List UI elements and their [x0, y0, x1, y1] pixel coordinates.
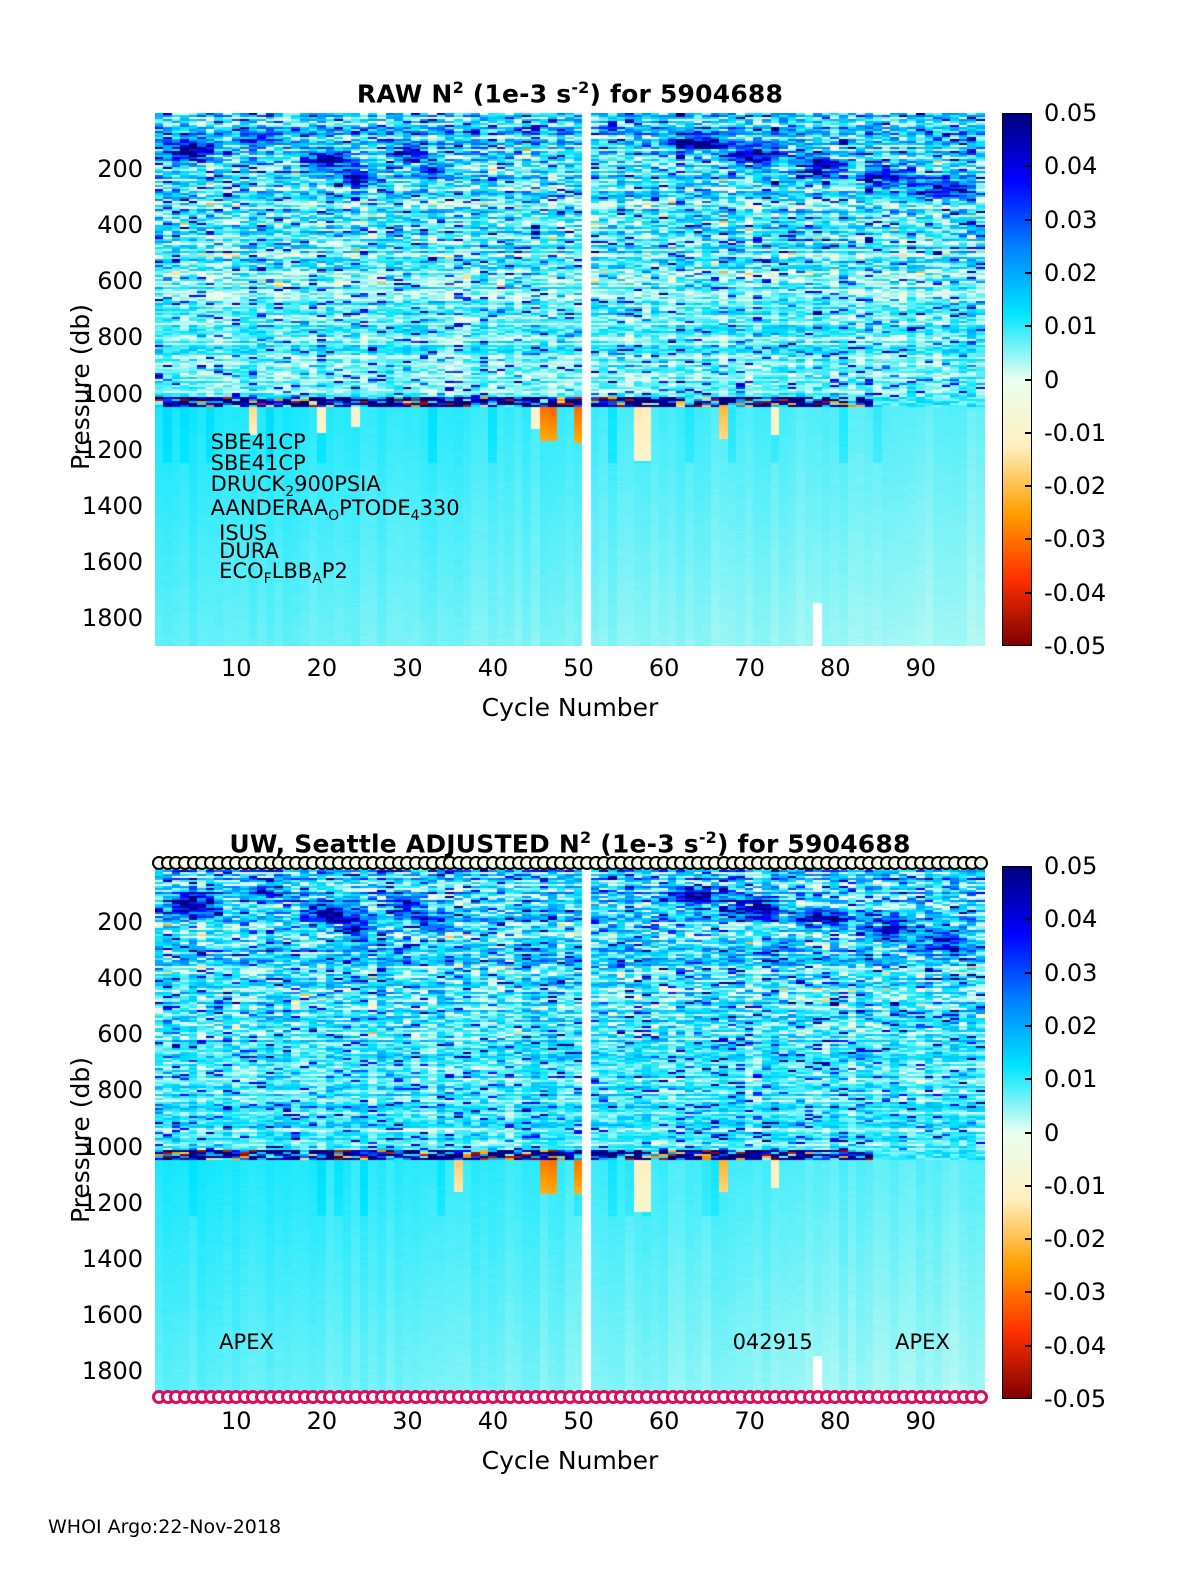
- y-tick-label: 1400: [0, 492, 143, 520]
- x-tick-label: 80: [820, 1407, 851, 1435]
- colorbar-tick-mark: [1025, 1291, 1032, 1293]
- x-tick-label: 70: [734, 654, 765, 682]
- y-tick-label: 1600: [0, 1301, 143, 1329]
- colorbar-tick-label: 0.05: [1044, 852, 1097, 880]
- x-tick-label: 60: [649, 654, 680, 682]
- colorbar-tick-label: 0.02: [1044, 259, 1097, 287]
- colorbar-tick-label: 0: [1044, 1119, 1059, 1147]
- colorbar-tick-mark: [1025, 1078, 1032, 1080]
- colorbar-tick-label: 0.05: [1044, 99, 1097, 127]
- x-tick-label: 80: [820, 654, 851, 682]
- plot-annotation: SBE41CP: [211, 432, 306, 453]
- plot-title-adjusted: UW, Seattle ADJUSTED N2 (1e-3 s-2) for 5…: [155, 828, 985, 858]
- plot-annotation: APEX: [895, 1332, 950, 1353]
- y-axis-label-adjusted: Pressure (db): [66, 1057, 95, 1223]
- x-axis-label-adjusted: Cycle Number: [155, 1446, 985, 1475]
- plot-annotation: 042915: [733, 1332, 813, 1353]
- colorbar-tick-label: 0.01: [1044, 1065, 1097, 1093]
- colorbar-tick-label: -0.05: [1044, 632, 1106, 660]
- x-tick-label: 10: [221, 1407, 252, 1435]
- x-tick-label: 60: [649, 1407, 680, 1435]
- x-tick-label: 30: [392, 654, 423, 682]
- x-tick-label: 40: [478, 654, 509, 682]
- colorbar-tick-label: -0.04: [1044, 1332, 1106, 1360]
- y-tick-label: 400: [0, 211, 143, 239]
- cycle-markers-top: [155, 856, 985, 876]
- y-tick-label: 200: [0, 908, 143, 936]
- colorbar-tick-label: 0.04: [1044, 152, 1097, 180]
- colorbar-tick-mark: [1025, 918, 1032, 920]
- colorbar-tick-label: -0.05: [1044, 1385, 1106, 1413]
- y-tick-label: 1600: [0, 548, 143, 576]
- colorbar-tick-label: -0.03: [1044, 1278, 1106, 1306]
- heatmap-canvas-adjusted: [155, 866, 985, 1399]
- y-tick-label: 600: [0, 267, 143, 295]
- x-tick-label: 90: [906, 1407, 937, 1435]
- footer-credit: WHOI Argo:22-Nov-2018: [48, 1516, 281, 1538]
- x-tick-label: 10: [221, 654, 252, 682]
- x-tick-label: 20: [307, 654, 338, 682]
- x-tick-label: 90: [906, 654, 937, 682]
- x-tick-label: 30: [392, 1407, 423, 1435]
- colorbar-tick-label: -0.02: [1044, 1225, 1106, 1253]
- colorbar-tick-mark: [1025, 538, 1032, 540]
- x-tick-label: 50: [563, 1407, 594, 1435]
- y-tick-label: 600: [0, 1020, 143, 1048]
- colorbar-tick-label: -0.01: [1044, 419, 1106, 447]
- colorbar-tick-label: 0.03: [1044, 206, 1097, 234]
- heatmap-axes-adjusted: [155, 866, 985, 1399]
- x-tick-label: 20: [307, 1407, 338, 1435]
- colorbar-tick-mark: [1025, 165, 1032, 167]
- colorbar-tick-label: -0.02: [1044, 472, 1106, 500]
- y-axis-label-raw: Pressure (db): [66, 304, 95, 470]
- y-tick-label: 1400: [0, 1245, 143, 1273]
- colorbar-tick-mark: [1025, 592, 1032, 594]
- colorbar-tick-label: 0.01: [1044, 312, 1097, 340]
- y-tick-label: 1800: [0, 604, 143, 632]
- colorbar-tick-mark: [1025, 972, 1032, 974]
- colorbar-tick-mark: [1025, 1132, 1032, 1134]
- colorbar-tick-label: -0.04: [1044, 579, 1106, 607]
- colorbar-tick-mark: [1025, 485, 1032, 487]
- x-tick-label: 70: [734, 1407, 765, 1435]
- panel-adjusted: UW, Seattle ADJUSTED N2 (1e-3 s-2) for 5…: [0, 735, 1200, 1495]
- x-axis-label-raw: Cycle Number: [155, 693, 985, 722]
- colorbar-tick-label: 0.04: [1044, 905, 1097, 933]
- colorbar-tick-mark: [1025, 379, 1032, 381]
- colorbar-tick-label: -0.03: [1044, 525, 1106, 553]
- colorbar-tick-label: 0.03: [1044, 959, 1097, 987]
- plot-title-raw: RAW N2 (1e-3 s-2) for 5904688: [155, 78, 985, 108]
- y-tick-label: 400: [0, 964, 143, 992]
- plot-annotation: SBE41CP: [211, 453, 306, 474]
- colorbar-tick-mark: [1025, 432, 1032, 434]
- cycle-marker: [974, 856, 988, 870]
- cycle-marker: [974, 1390, 988, 1404]
- colorbar-tick-label: -0.01: [1044, 1172, 1106, 1200]
- panel-raw: RAW N2 (1e-3 s-2) for 5904688 2004006008…: [0, 0, 1200, 760]
- plot-annotation: ECOFLBBAP2: [219, 561, 348, 586]
- colorbar-tick-mark: [1025, 1238, 1032, 1240]
- colorbar-tick-mark: [1025, 1185, 1032, 1187]
- y-tick-label: 1800: [0, 1357, 143, 1385]
- colorbar-tick-mark: [1025, 325, 1032, 327]
- x-tick-label: 50: [563, 654, 594, 682]
- y-tick-label: 200: [0, 155, 143, 183]
- plot-annotation: AANDERAAOPTODE4330: [211, 498, 460, 523]
- colorbar-tick-mark: [1025, 1025, 1032, 1027]
- plot-annotation: APEX: [219, 1332, 274, 1353]
- x-tick-label: 40: [478, 1407, 509, 1435]
- colorbar-tick-mark: [1025, 272, 1032, 274]
- colorbar-tick-mark: [1025, 1345, 1032, 1347]
- colorbar-tick-mark: [1025, 219, 1032, 221]
- colorbar-tick-label: 0.02: [1044, 1012, 1097, 1040]
- colorbar-tick-label: 0: [1044, 366, 1059, 394]
